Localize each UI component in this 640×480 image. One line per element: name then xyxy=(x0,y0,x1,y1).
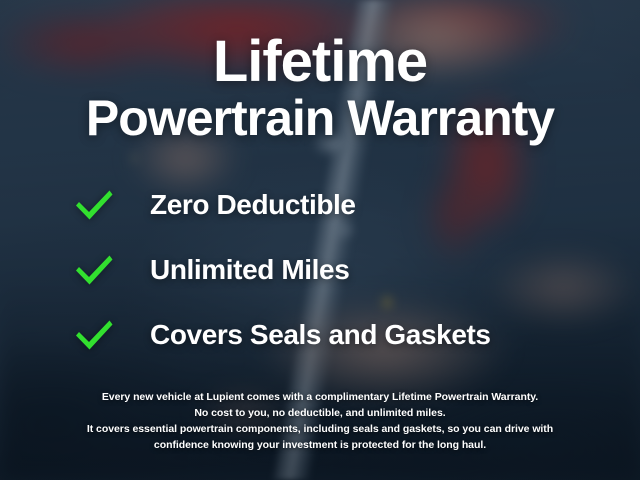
feature-label: Covers Seals and Gaskets xyxy=(150,319,491,351)
feature-label: Zero Deductible xyxy=(150,189,356,221)
body-copy: Every new vehicle at Lupient comes with … xyxy=(0,389,640,453)
feature-item-unlimited-miles: Unlimited Miles xyxy=(70,237,491,302)
check-icon xyxy=(70,318,118,352)
check-icon xyxy=(70,188,118,222)
feature-item-zero-deductible: Zero Deductible xyxy=(70,172,491,237)
feature-label: Unlimited Miles xyxy=(150,254,349,286)
body-copy-line: Every new vehicle at Lupient comes with … xyxy=(0,389,640,405)
feature-item-covers-seals-and-gaskets: Covers Seals and Gaskets xyxy=(70,302,491,367)
feature-list: Zero Deductible Unlimited Miles Covers S… xyxy=(70,172,491,367)
warranty-banner: Lifetime Powertrain Warranty Zero Deduct… xyxy=(0,0,640,480)
headline-line-2: Powertrain Warranty xyxy=(0,93,640,143)
body-copy-line: It covers essential powertrain component… xyxy=(0,421,640,437)
body-copy-line: No cost to you, no deductible, and unlim… xyxy=(0,405,640,421)
banner-content: Lifetime Powertrain Warranty Zero Deduct… xyxy=(0,0,640,480)
check-icon xyxy=(70,253,118,287)
body-copy-line: confidence knowing your investment is pr… xyxy=(0,437,640,453)
headline-line-1: Lifetime xyxy=(0,33,640,91)
